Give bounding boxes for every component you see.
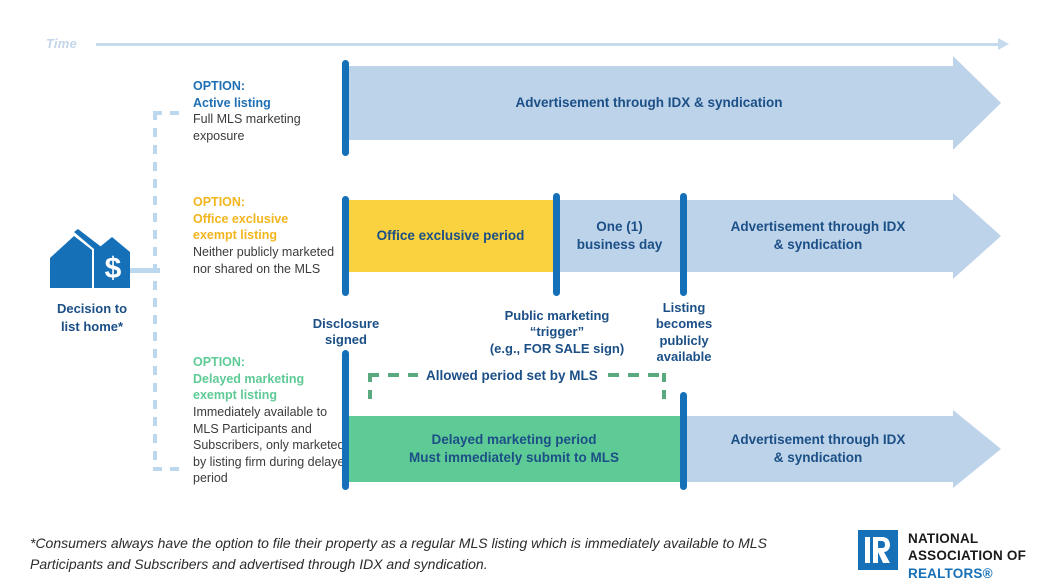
time-axis-line xyxy=(96,43,1001,46)
one-business-day-line-1: One (1) xyxy=(577,218,663,236)
nar-logo-text: NATIONAL ASSOCIATION OF REALTORS® xyxy=(908,530,1026,582)
delayed-advertisement-segment: Advertisement through IDX & syndication xyxy=(683,416,953,482)
start-node-caption: Decision to list home* xyxy=(52,300,132,335)
trigger-line-2: “trigger” xyxy=(484,324,630,340)
marker-caption-disclosure: Disclosure signed xyxy=(295,316,397,349)
delayed-period-line-2: Must immediately submit to MLS xyxy=(409,449,619,467)
house-dollar-icon: $ xyxy=(48,228,132,290)
one-business-day-line-2: business day xyxy=(577,236,663,254)
option-delayed-marketing: OPTION: Delayed marketing exempt listing… xyxy=(193,354,353,487)
nar-logo-line-1: NATIONAL xyxy=(908,530,1026,547)
option-office-description: Neither publicly marketed nor shared on … xyxy=(193,244,353,277)
marker-bar-trigger-row2 xyxy=(553,193,560,296)
option-active-listing: OPTION: Active listing Full MLS marketin… xyxy=(193,78,353,145)
one-business-day-segment: One (1) business day xyxy=(556,200,683,272)
footnote: *Consumers always have the option to fil… xyxy=(30,533,830,575)
office-advertisement-line-1: Advertisement through IDX xyxy=(731,218,906,236)
nar-logo-mark-icon xyxy=(858,530,898,570)
infographic-canvas: Time $ Decision to list home* OPTION: Ac… xyxy=(0,0,1039,586)
delayed-advertisement-line-1: Advertisement through IDX xyxy=(731,431,906,449)
option-office-exclusive: OPTION: Office exclusive exempt listing … xyxy=(193,194,353,277)
option-delayed-eyebrow: OPTION: xyxy=(193,354,353,371)
time-axis-label: Time xyxy=(46,36,77,51)
office-exclusive-period-segment: Office exclusive period xyxy=(345,200,556,272)
trigger-line-3: (e.g., FOR SALE sign) xyxy=(484,341,630,357)
start-caption-line-1: Decision to xyxy=(57,301,127,316)
option-active-description: Full MLS marketing exposure xyxy=(193,111,353,144)
allowed-period-bracket-left-leg xyxy=(368,373,372,405)
office-advertisement-line-2: & syndication xyxy=(731,236,906,254)
marker-bar-disclosure-row3 xyxy=(342,350,349,490)
option-office-title-line-1: Office exclusive xyxy=(193,211,353,228)
marker-caption-publicly-available: Listing becomes publicly available xyxy=(648,300,720,365)
option-delayed-title-line-2: exempt listing xyxy=(193,387,353,404)
branch-bracket-top-stub xyxy=(153,111,187,115)
publicly-line-4: available xyxy=(648,349,720,365)
delayed-marketing-period-segment: Delayed marketing period Must immediatel… xyxy=(345,416,683,482)
option-office-eyebrow: OPTION: xyxy=(193,194,353,211)
option-office-title-line-2: exempt listing xyxy=(193,227,353,244)
disclosure-line-2: signed xyxy=(295,332,397,348)
start-caption-line-2: list home* xyxy=(61,319,123,334)
allowed-period-bracket-label: Allowed period set by MLS xyxy=(418,368,606,383)
office-exclusive-advertisement-segment: Advertisement through IDX & syndication xyxy=(683,200,953,272)
delayed-marketing-arrow: Delayed marketing period Must immediatel… xyxy=(345,410,1001,488)
active-listing-segment-label: Advertisement through IDX & syndication xyxy=(345,66,953,140)
marker-bar-disclosure-row2 xyxy=(342,196,349,296)
option-active-eyebrow: OPTION: xyxy=(193,78,353,95)
marker-bar-disclosure-row1 xyxy=(342,60,349,156)
branch-bracket-bottom-stub xyxy=(153,467,187,471)
publicly-line-3: publicly xyxy=(648,333,720,349)
publicly-line-2: becomes xyxy=(648,316,720,332)
allowed-period-bracket-right-leg xyxy=(662,373,666,405)
delayed-period-line-1: Delayed marketing period xyxy=(409,431,619,449)
option-delayed-title-line-1: Delayed marketing xyxy=(193,371,353,388)
time-axis-arrowhead-icon xyxy=(998,38,1009,50)
nar-logo-line-2: ASSOCIATION OF xyxy=(908,547,1026,564)
svg-text:$: $ xyxy=(105,252,122,285)
trigger-line-1: Public marketing xyxy=(484,308,630,324)
marker-bar-publicly-available-row3 xyxy=(680,392,687,490)
office-exclusive-arrow: Office exclusive period One (1) business… xyxy=(345,193,1001,279)
delayed-advertisement-line-2: & syndication xyxy=(731,449,906,467)
nar-logo-line-3: REALTORS® xyxy=(908,565,1026,582)
nar-logo: NATIONAL ASSOCIATION OF REALTORS® xyxy=(858,528,1028,576)
branch-bracket-vertical xyxy=(153,111,157,471)
marker-caption-trigger: Public marketing “trigger” (e.g., FOR SA… xyxy=(484,308,630,357)
active-listing-arrow: Advertisement through IDX & syndication xyxy=(345,56,1001,150)
marker-bar-publicly-available-row2 xyxy=(680,193,687,296)
publicly-line-1: Listing xyxy=(648,300,720,316)
option-active-title: Active listing xyxy=(193,95,353,112)
option-delayed-description: Immediately available to MLS Participant… xyxy=(193,404,353,487)
disclosure-line-1: Disclosure xyxy=(295,316,397,332)
